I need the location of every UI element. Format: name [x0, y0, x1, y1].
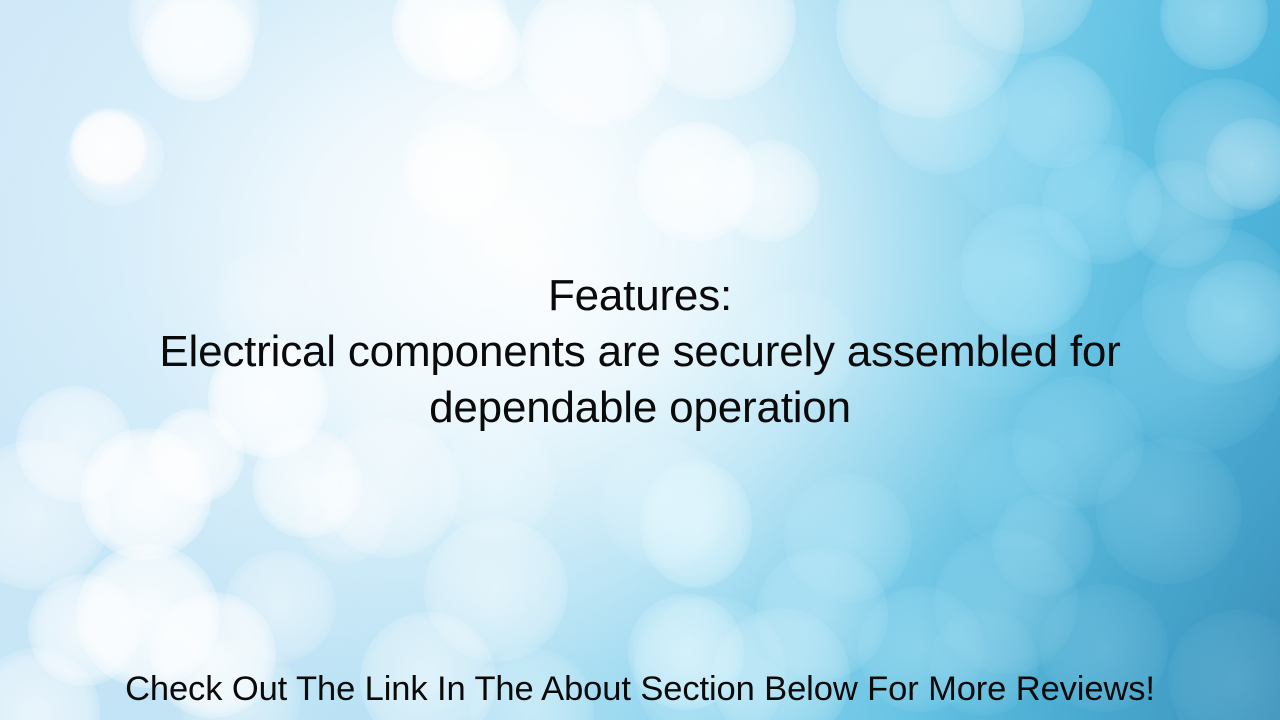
headline-line-features: Features:: [0, 268, 1280, 324]
headline-line-description-1: Electrical components are securely assem…: [0, 324, 1280, 380]
headline-text-block: Features: Electrical components are secu…: [0, 268, 1280, 436]
footer-call-to-action: Check Out The Link In The About Section …: [0, 668, 1280, 710]
headline-line-description-2: dependable operation: [0, 380, 1280, 436]
slide-canvas: Features: Electrical components are secu…: [0, 0, 1280, 720]
